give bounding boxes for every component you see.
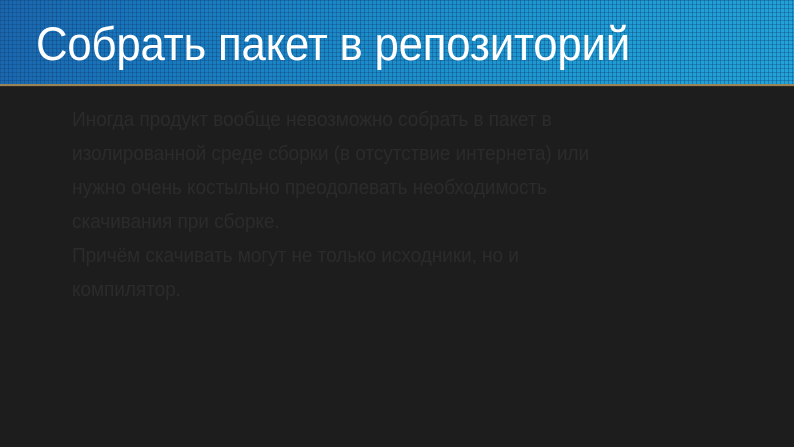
body-text-line: изолированной среде сборки (в отсутствие… <box>72 137 693 171</box>
body-text-line: нужно очень костыльно преодолевать необх… <box>72 171 693 205</box>
presentation-slide: Собрать пакет в репозиторий Иногда проду… <box>0 0 794 447</box>
page-title: Собрать пакет в репозиторий <box>36 16 715 72</box>
body-text-block: Иногда продукт вообще невозможно собрать… <box>72 103 722 307</box>
body-text-line: Иногда продукт вообще невозможно собрать… <box>72 103 693 137</box>
body-text-line: Причём скачивать могут не только исходни… <box>72 239 693 273</box>
slide-title-band: Собрать пакет в репозиторий <box>0 0 794 84</box>
body-text-line: скачивания при сборке. <box>72 205 693 239</box>
slide-body: Иногда продукт вообще невозможно собрать… <box>0 87 794 447</box>
body-text-line: компилятор. <box>72 273 693 307</box>
